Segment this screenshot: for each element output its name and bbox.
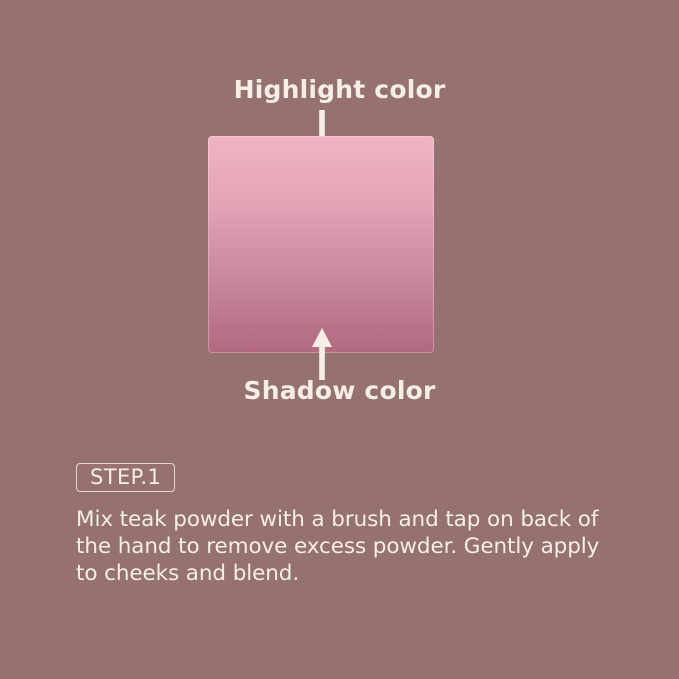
highlight-color-label: Highlight color [0,75,679,104]
product-instruction-infographic: Highlight color Shadow color STEP.1 Mix … [0,0,679,679]
gradient-color-swatch [208,136,434,353]
step-number-badge: STEP.1 [76,463,175,492]
shadow-color-label: Shadow color [0,376,679,405]
color-swatch-diagram: Highlight color Shadow color [0,0,679,420]
step-instruction-text: Mix teak powder with a brush and tap on … [76,506,610,587]
arrow-up-icon [311,327,333,380]
step-instruction-block: STEP.1 Mix teak powder with a brush and … [76,463,616,587]
